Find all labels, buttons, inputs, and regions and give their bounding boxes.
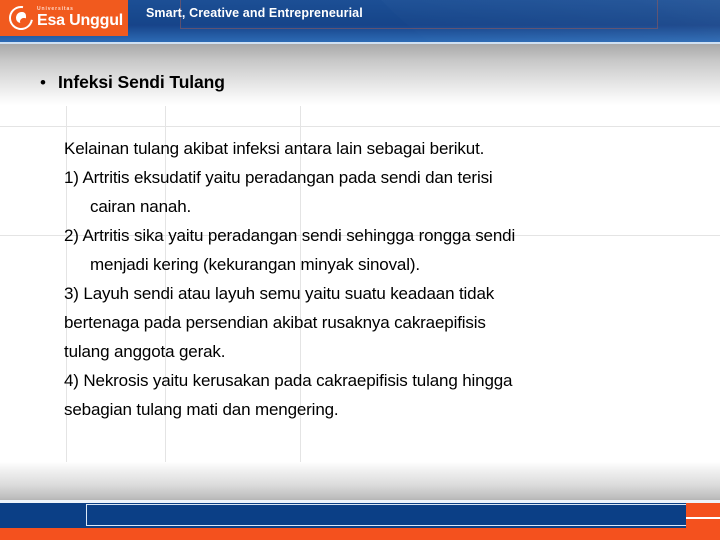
body-line: 4) Nekrosis yaitu kerusakan pada cakraep…: [64, 366, 674, 395]
logo-text-group: Universitas Esa Unggul: [37, 7, 123, 29]
body-line: 3) Layuh sendi atau layuh semu yaitu sua…: [64, 279, 674, 308]
footer-orange-corner-seam: [686, 517, 720, 519]
background-guide-line-horizontal-top: [0, 126, 720, 127]
body-line: tulang anggota gerak.: [64, 337, 674, 366]
body-line: bertenaga pada persendian akibat rusakny…: [64, 308, 674, 337]
header-tagline: Smart, Creative and Entrepreneurial: [146, 6, 363, 20]
slide-body-textbox: Kelainan tulang akibat infeksi antara la…: [64, 134, 674, 424]
footer-orange-strip: [0, 528, 720, 540]
title-bullet-icon: •: [40, 74, 58, 91]
body-line: Kelainan tulang akibat infeksi antara la…: [64, 134, 674, 163]
header-underline: [0, 42, 720, 44]
footer-shadow-band: [0, 462, 720, 503]
page-title: Infeksi Sendi Tulang: [58, 72, 225, 93]
body-line: 2) Artritis sika yaitu peradangan sendi …: [64, 221, 674, 250]
footer-orange-corner: [686, 503, 720, 528]
slide-canvas: Universitas Esa Unggul Smart, Creative a…: [0, 0, 720, 540]
body-line: sebagian tulang mati dan mengering.: [64, 395, 674, 424]
logo-main-text: Esa Unggul: [37, 13, 123, 29]
university-logo: Universitas Esa Unggul: [0, 0, 128, 36]
swirl-logo-icon: [9, 6, 33, 30]
slide-title-row: • Infeksi Sendi Tulang: [40, 72, 680, 93]
body-line: menjadi kering (kekurangan minyak sinova…: [64, 250, 674, 279]
footer-outline-box: [86, 504, 686, 526]
body-line: cairan nanah.: [64, 192, 674, 221]
swirl-inner-cut-shape: [20, 18, 28, 26]
body-line: 1) Artritis eksudatif yaitu peradangan p…: [64, 163, 674, 192]
